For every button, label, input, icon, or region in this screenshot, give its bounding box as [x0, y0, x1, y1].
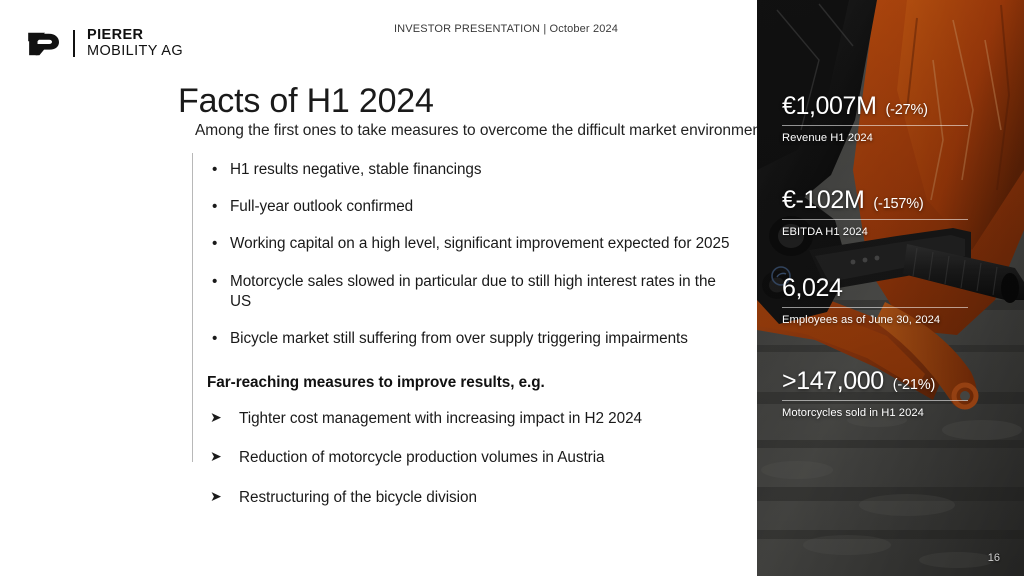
slide-body: • H1 results negative, stable financings… — [207, 160, 767, 527]
list-item-text: Restructuring of the bicycle division — [239, 489, 477, 506]
list-item-text: H1 results negative, stable financings — [230, 161, 482, 178]
list-item-text: Tighter cost management with increasing … — [239, 410, 642, 427]
bullet-dot-icon: • — [212, 234, 217, 254]
list-item: • Working capital on a high level, signi… — [207, 234, 767, 254]
kpi-label: EBITDA H1 2024 — [782, 226, 1010, 238]
measures-arrow-list: ➤ Tighter cost management with increasin… — [207, 409, 767, 508]
kpi-label: Motorcycles sold in H1 2024 — [782, 407, 1010, 419]
page-title: Facts of H1 2024 — [178, 84, 434, 120]
kpi-motorcycles-sold: >147,000 (-21%) Motorcycles sold in H1 2… — [782, 367, 1010, 419]
kpi-value: >147,000 — [782, 367, 884, 396]
list-item: • Bicycle market still suffering from ov… — [207, 329, 767, 349]
page-subtitle: Among the first ones to take measures to… — [195, 122, 765, 140]
arrow-bullet-icon: ➤ — [210, 447, 222, 467]
list-item: ➤ Restructuring of the bicycle division — [207, 488, 767, 508]
logo-line-2: MOBILITY AG — [87, 44, 183, 60]
bullet-dot-icon: • — [212, 272, 217, 292]
arrow-bullet-icon: ➤ — [210, 487, 222, 507]
kpi-delta: (-27%) — [886, 102, 928, 118]
list-item-text: Working capital on a high level, signifi… — [230, 235, 729, 252]
bullet-dot-icon: • — [212, 160, 217, 180]
measures-heading: Far-reaching measures to improve results… — [207, 374, 767, 392]
kpi-value: 6,024 — [782, 274, 843, 303]
kpi-value-row: >147,000 (-21%) — [782, 367, 1010, 396]
list-item: ➤ Reduction of motorcycle production vol… — [207, 448, 767, 468]
kpi-delta: (-157%) — [873, 196, 923, 212]
bullet-dot-icon: • — [212, 197, 217, 217]
kpi-label: Employees as of June 30, 2024 — [782, 314, 1010, 326]
kpi-label: Revenue H1 2024 — [782, 132, 1010, 144]
content-vertical-divider — [192, 153, 193, 462]
bullet-dot-icon: • — [212, 329, 217, 349]
kpi-divider — [782, 400, 968, 401]
page-number: 16 — [988, 552, 1000, 564]
list-item: • Full-year outlook confirmed — [207, 197, 767, 217]
list-item: • H1 results negative, stable financings — [207, 160, 767, 180]
list-item-text: Reduction of motorcycle production volum… — [239, 449, 605, 466]
kpi-value: €1,007M — [782, 92, 877, 121]
arrow-bullet-icon: ➤ — [210, 408, 222, 428]
list-item-text: Full-year outlook confirmed — [230, 198, 413, 215]
kpi-value-row: €1,007M (-27%) — [782, 92, 1010, 121]
list-item: • Motorcycle sales slowed in particular … — [207, 272, 720, 312]
kpi-divider — [782, 307, 968, 308]
kpi-value-row: €-102M (-157%) — [782, 186, 1010, 215]
list-item-text: Bicycle market still suffering from over… — [230, 330, 688, 347]
list-item-text: Motorcycle sales slowed in particular du… — [230, 273, 716, 310]
kpi-employees: 6,024 Employees as of June 30, 2024 — [782, 274, 1010, 326]
list-item: ➤ Tighter cost management with increasin… — [207, 409, 767, 429]
kpi-ebitda: €-102M (-157%) EBITDA H1 2024 — [782, 186, 1010, 238]
kpi-value: €-102M — [782, 186, 864, 215]
facts-bullet-list: • H1 results negative, stable financings… — [207, 160, 767, 349]
presentation-slide: PIERER MOBILITY AG INVESTOR PRESENTATION… — [0, 0, 1024, 576]
kpi-photo-panel: €1,007M (-27%) Revenue H1 2024 €-102M (-… — [757, 0, 1024, 576]
kpi-delta: (-21%) — [893, 377, 935, 393]
kpi-revenue: €1,007M (-27%) Revenue H1 2024 — [782, 92, 1010, 144]
kpi-value-row: 6,024 — [782, 274, 1010, 303]
header-presentation-meta: INVESTOR PRESENTATION | October 2024 — [0, 23, 757, 35]
kpi-divider — [782, 125, 968, 126]
kpi-divider — [782, 219, 968, 220]
